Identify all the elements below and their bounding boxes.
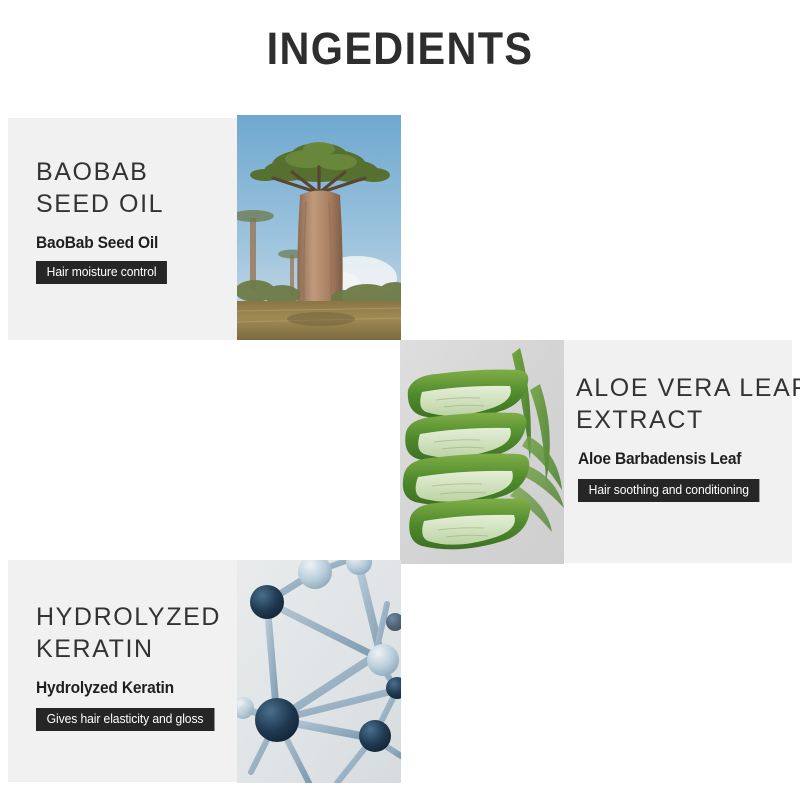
ingredient-heading-line2: SEED OIL: [36, 188, 164, 220]
ingredient-heading-line2: KERATIN: [36, 633, 221, 665]
ingredient-heading-baobab: BAOBAB SEED OIL: [36, 156, 164, 220]
ingredient-benefit-badge-wrap-keratin: Gives hair elasticity and gloss: [36, 708, 220, 731]
ingredient-card-hydrolyzed-keratin: [8, 560, 238, 782]
ingredient-inci-name-keratin: Hydrolyzed Keratin: [36, 679, 174, 698]
baobab-tree-photo: [237, 115, 401, 340]
ingredient-heading-line1: HYDROLYZED: [36, 601, 221, 633]
ingredient-inci-name-aloe: Aloe Barbadensis Leaf: [578, 450, 741, 469]
ingredient-benefit-badge-keratin: Gives hair elasticity and gloss: [36, 708, 214, 731]
ingredient-heading-aloe: ALOE VERA LEAF EXTRACT: [576, 372, 800, 436]
ingredient-benefit-badge-wrap-aloe: Hair soothing and conditioning: [578, 479, 765, 502]
ingredient-benefit-badge-wrap-baobab: Hair moisture control: [36, 261, 171, 284]
ingredient-heading-line1: ALOE VERA LEAF: [576, 372, 800, 404]
ingredient-heading-line1: BAOBAB: [36, 156, 164, 188]
ingredient-inci-name-baobab: BaoBab Seed Oil: [36, 234, 158, 253]
ingredient-heading-line2: EXTRACT: [576, 404, 800, 436]
ingredient-benefit-badge-aloe: Hair soothing and conditioning: [578, 479, 760, 502]
ingredient-card-baobab-seed-oil: [8, 118, 238, 340]
aloe-vera-leaf-slices-photo: [400, 340, 564, 564]
ingredient-benefit-badge-baobab: Hair moisture control: [36, 261, 167, 284]
page-title: INGEDIENTS: [32, 26, 768, 71]
ingredient-heading-keratin: HYDROLYZED KERATIN: [36, 601, 221, 665]
molecular-structure-photo: [237, 560, 401, 783]
